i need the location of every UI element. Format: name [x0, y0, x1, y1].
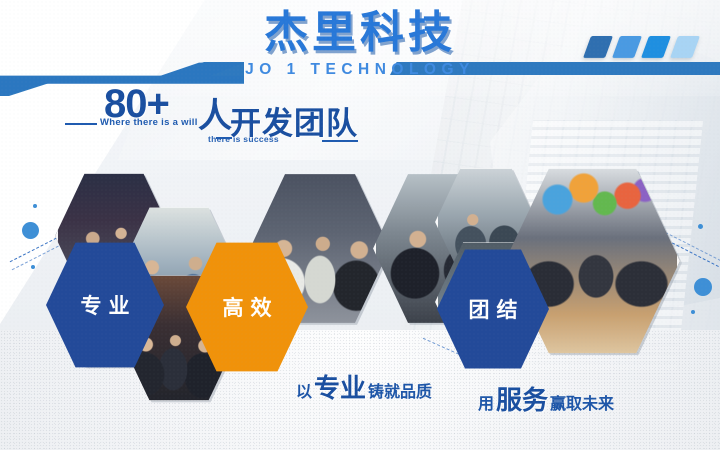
- tagline-left-pre: 以: [296, 378, 312, 402]
- tagline-left: 以 专业 铸就品质: [296, 368, 432, 405]
- tagline-right-post: 赢取未来: [550, 390, 614, 414]
- tagline-left-post: 铸就品质: [368, 378, 432, 402]
- tagline-right-pre: 用: [478, 390, 494, 414]
- hex-label-professional-text: 专业: [74, 290, 137, 320]
- banner-canvas: 杰里科技 JO 1 TECHNOLOGY 80+ 人 开发团队 Where th…: [0, 0, 720, 450]
- tagline-left-key: 专业: [314, 368, 366, 405]
- tagline-right-key: 服务: [496, 380, 548, 417]
- hex-label-efficient-text: 高效: [216, 292, 279, 322]
- hex-label-united-text: 团结: [462, 294, 525, 324]
- tagline-right: 用 服务 赢取未来: [478, 380, 614, 417]
